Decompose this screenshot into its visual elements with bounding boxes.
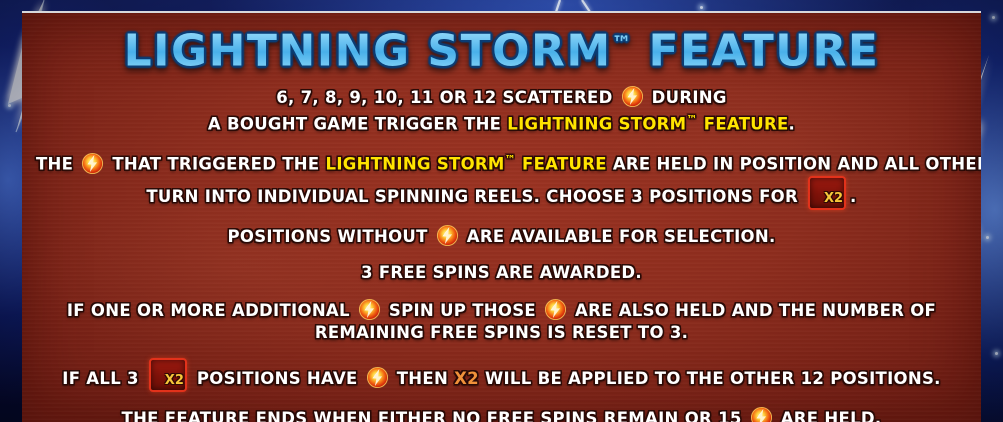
scatter-lightning-ball-icon	[750, 406, 773, 422]
rule-line: TURN INTO INDIVIDUAL SPINNING REELS. CHO…	[22, 176, 981, 210]
rule-paragraph: THE THAT TRIGGERED THE LIGHTNING STORM™ …	[22, 149, 981, 210]
highlighted-feature-name: FEATURE	[516, 155, 607, 174]
title-trademark-mark: ™	[612, 31, 632, 55]
rules-text-block: 6, 7, 8, 9, 10, 11 OR 12 SCATTERED DURIN…	[22, 85, 981, 422]
rule-line: REMAINING FREE SPINS IS RESET TO 3.	[22, 322, 981, 344]
rule-line: 3 FREE SPINS ARE AWARDED.	[22, 262, 981, 284]
rule-paragraph: IF ALL 3 x2 POSITIONS HAVE THEN x2 WILL …	[22, 358, 981, 392]
page-title: LIGHTNING STORM™ FEATURE	[22, 13, 981, 76]
x2-multiplier-tile-icon: x2	[808, 176, 846, 210]
scatter-lightning-ball-icon	[621, 85, 644, 108]
rule-paragraph: THE FEATURE ENDS WHEN EITHER NO FREE SPI…	[22, 406, 981, 422]
scatter-lightning-ball-icon	[358, 298, 381, 321]
trademark-mark: ™	[686, 113, 697, 126]
highlighted-feature-name: FEATURE	[698, 114, 789, 133]
x2-multiplier-text: x2	[454, 369, 479, 388]
panel-content: LIGHTNING STORM™ FEATURE 6, 7, 8, 9, 10,…	[22, 13, 981, 422]
scatter-lightning-ball-icon	[436, 224, 459, 247]
rule-paragraph: 3 FREE SPINS ARE AWARDED.	[22, 262, 981, 284]
highlighted-feature-name: LIGHTNING STORM	[326, 155, 505, 174]
rule-paragraph: 6, 7, 8, 9, 10, 11 OR 12 SCATTERED DURIN…	[22, 85, 981, 136]
rule-line: IF ONE OR MORE ADDITIONAL SPIN UP THOSE …	[22, 298, 981, 322]
x2-multiplier-tile-icon: x2	[149, 358, 187, 392]
rule-line: POSITIONS WITHOUT ARE AVAILABLE FOR SELE…	[22, 224, 981, 248]
scatter-lightning-ball-icon	[81, 152, 104, 175]
rule-line: IF ALL 3 x2 POSITIONS HAVE THEN x2 WILL …	[22, 358, 981, 392]
x2-tile-label: x2	[824, 188, 843, 210]
rule-paragraph: IF ONE OR MORE ADDITIONAL SPIN UP THOSE …	[22, 298, 981, 344]
scatter-lightning-ball-icon	[544, 298, 567, 321]
rule-paragraph: POSITIONS WITHOUT ARE AVAILABLE FOR SELE…	[22, 224, 981, 248]
highlighted-feature-name: LIGHTNING STORM	[507, 114, 686, 133]
rule-line: THE FEATURE ENDS WHEN EITHER NO FREE SPI…	[22, 406, 981, 422]
rule-line: 6, 7, 8, 9, 10, 11 OR 12 SCATTERED DURIN…	[22, 85, 981, 109]
x2-tile-label: x2	[165, 370, 184, 392]
rule-line: A BOUGHT GAME TRIGGER THE LIGHTNING STOR…	[22, 109, 981, 136]
trademark-mark: ™	[505, 153, 516, 166]
feature-info-screen: LIGHTNING STORM™ FEATURE 6, 7, 8, 9, 10,…	[0, 0, 1003, 422]
rule-line: THE THAT TRIGGERED THE LIGHTNING STORM™ …	[22, 149, 981, 176]
feature-info-panel: LIGHTNING STORM™ FEATURE 6, 7, 8, 9, 10,…	[22, 11, 981, 422]
scatter-lightning-ball-icon	[366, 366, 389, 389]
